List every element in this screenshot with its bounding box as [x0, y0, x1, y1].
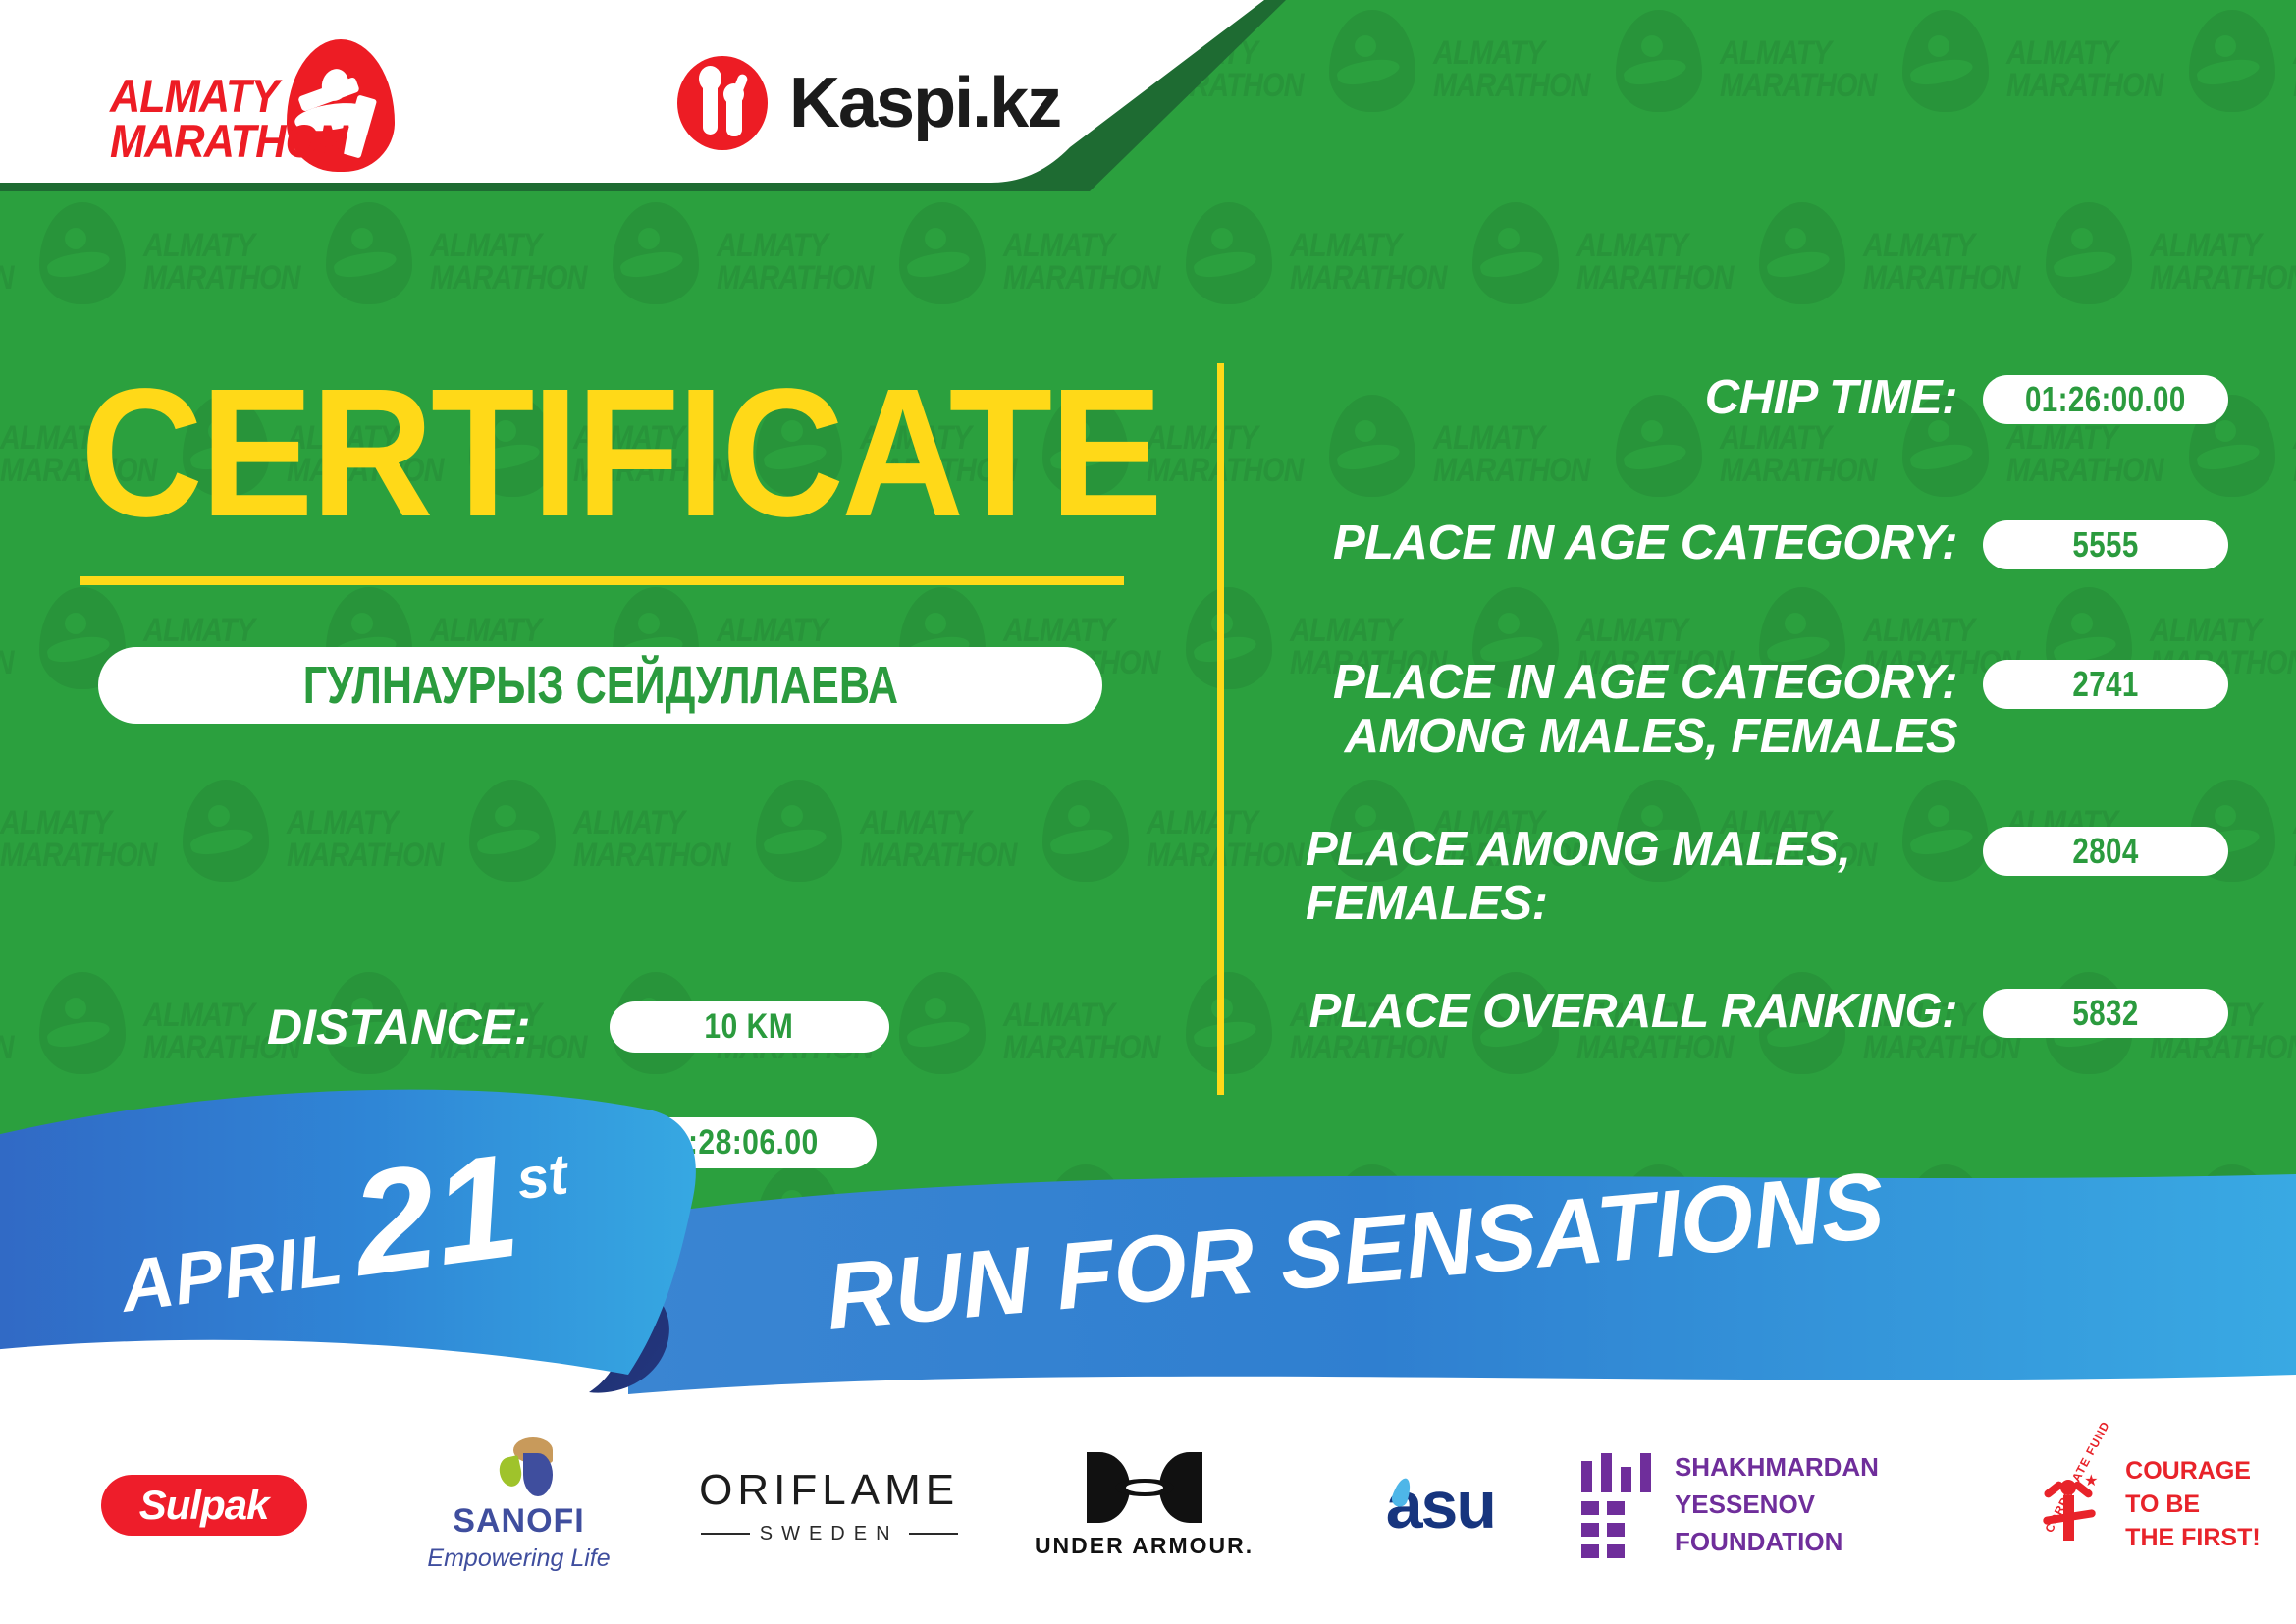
stat-label: CHIP TIME: [1247, 371, 1983, 425]
watermark-tile: ALMATY MARATHON [1720, 0, 2014, 196]
watermark-text: ALMATY MARATHON [1003, 1000, 1179, 1065]
courage-wordmark: COURAGE TO BE THE FIRST! [2125, 1455, 2261, 1554]
watermark-text: ALMATY MARATHON [0, 230, 32, 296]
sponsor-bar: Sulpak SANOFI Empowering Life ORIFLAME S… [0, 1412, 2296, 1598]
watermark-drop-icon [1042, 780, 1129, 882]
stat-row: PLACE AMONG MALES, FEMALES: 2804 [1247, 823, 2228, 931]
sponsor-logo-oriflame: ORIFLAME SWEDEN [669, 1466, 989, 1545]
watermark-drop-icon [469, 780, 556, 882]
stat-row: CHIP TIME: 01:26:00.00 [1247, 371, 2228, 425]
stat-value: 01:26:00.00 [2025, 379, 2186, 420]
sanofi-wordmark: SANOFI [453, 1502, 584, 1541]
watermark-text: ALMATY MARATHON [1863, 230, 2039, 296]
title-underline-rule [80, 576, 1124, 585]
stat-value-pill: 5832 [1983, 989, 2228, 1038]
watermark-tile: ALMATY MARATHON [2006, 0, 2296, 196]
kaspi-figure-short-head [723, 83, 744, 105]
kaspi-wordmark: Kaspi.kz [789, 63, 1060, 143]
distance-row: DISTANCE: 10 KM [267, 999, 889, 1056]
kaspi-mark-icon [677, 56, 768, 150]
watermark-text: ALMATY MARATHON [143, 230, 319, 296]
watermark-text: ALMATY MARATHON [2150, 230, 2296, 296]
certificate-root: ALMATY MARATHONALMATY MARATHONALMATY MAR… [0, 0, 2296, 1624]
watermark-text: ALMATY MARATHON [1147, 422, 1322, 488]
watermark-text: ALMATY MARATHON [430, 230, 606, 296]
sanofi-tagline: Empowering Life [427, 1544, 610, 1573]
participant-name-text: ГУЛНАУРЫЗ СЕЙДУЛЛАЕВА [302, 659, 897, 712]
courage-mark-icon: CORPORATE FUND ★ [2021, 1460, 2111, 1550]
watermark-text: ALMATY MARATHON [1576, 230, 1752, 296]
under-armour-mark-icon [1087, 1452, 1202, 1523]
ua-center-hole [1126, 1483, 1163, 1492]
watermark-drop-icon [326, 202, 412, 304]
watermark-drop-icon [1902, 10, 1989, 112]
watermark-tile: ALMATY MARATHON [1433, 0, 1728, 196]
stat-row: PLACE IN AGE CATEGORY: AMONG MALES, FEMA… [1247, 656, 2228, 764]
watermark-text: ALMATY MARATHON [1720, 422, 1896, 488]
stat-row: PLACE OVERALL RANKING: 5832 [1247, 985, 2228, 1039]
watermark-drop-icon [1186, 202, 1272, 304]
sponsor-logo-sanofi: SANOFI Empowering Life [368, 1437, 669, 1573]
watermark-text: ALMATY MARATHON [2006, 422, 2182, 488]
watermark-tile: ALMATY MARATHON [1863, 192, 2158, 389]
under-armour-wordmark: UNDER ARMOUR. [1035, 1533, 1254, 1559]
distance-value-pill: 10 KM [610, 1001, 889, 1053]
stat-value: 2741 [2072, 664, 2138, 705]
watermark-text: ALMATY MARATHON [1720, 37, 1896, 103]
yessenov-mark-icon [1581, 1453, 1651, 1558]
watermark-drop-icon [613, 202, 699, 304]
watermark-text: ALMATY MARATHON [0, 615, 32, 680]
watermark-text: ALMATY MARATHON [1003, 230, 1179, 296]
watermark-text: ALMATY MARATHON [2006, 37, 2182, 103]
watermark-drop-icon [1329, 10, 1415, 112]
watermark-drop-icon [899, 202, 986, 304]
stat-value: 5555 [2072, 524, 2138, 566]
watermark-text: ALMATY MARATHON [1290, 230, 1466, 296]
event-ribbon: APRIL 21 st RUN FOR SENSATIONS [0, 1080, 2296, 1404]
sponsor-logo-courage-to-be-the-first: CORPORATE FUND ★ COURAGE TO BE THE FIRST… [1986, 1455, 2296, 1554]
watermark-tile: ALMATY MARATHON [573, 770, 868, 966]
oriflame-wordmark: ORIFLAME [699, 1466, 959, 1515]
watermark-text: ALMATY MARATHON [573, 807, 749, 873]
almaty-marathon-logo: ALMATY MARATHON [110, 44, 404, 152]
sponsor-logo-asu: asu [1300, 1472, 1581, 1539]
event-day-ordinal: st [512, 1141, 571, 1213]
stat-row: PLACE IN AGE CATEGORY: 5555 [1247, 516, 2228, 570]
watermark-drop-icon [39, 972, 126, 1074]
watermark-tile: ALMATY MARATHON [0, 770, 294, 966]
sanofi-mark-icon [480, 1437, 559, 1498]
oriflame-rule-left [701, 1533, 750, 1535]
distance-label: DISTANCE: [267, 999, 531, 1056]
stat-label: PLACE AMONG MALES, FEMALES: [1247, 823, 1983, 931]
watermark-drop-icon [2189, 10, 2275, 112]
watermark-tile: ALMATY MARATHON [860, 770, 1154, 966]
stat-value-pill: 2741 [1983, 660, 2228, 709]
sulpak-wordmark: Sulpak [139, 1482, 269, 1529]
watermark-tile: ALMATY MARATHON [1576, 192, 1871, 389]
stat-label: PLACE IN AGE CATEGORY: [1247, 516, 1983, 570]
watermark-text: ALMATY MARATHON [717, 230, 892, 296]
watermark-drop-icon [1616, 10, 1702, 112]
sanofi-petal-blue [523, 1453, 553, 1496]
vertical-divider [1217, 363, 1224, 1095]
watermark-text: ALMATY MARATHON [1433, 422, 1609, 488]
watermark-text: ALMATY MARATHON [1433, 37, 1609, 103]
watermark-drop-icon [1472, 202, 1559, 304]
certificate-title: CERTIFICATE [80, 362, 1160, 545]
kaspi-figure-tall-head [699, 66, 721, 91]
stat-label: PLACE IN AGE CATEGORY: AMONG MALES, FEMA… [1247, 656, 1983, 764]
sanofi-petal-green [497, 1455, 524, 1489]
participant-name-field: ГУЛНАУРЫЗ СЕЙДУЛЛАЕВА [98, 647, 1102, 724]
almaty-marathon-wordmark: ALMATY MARATHON [110, 74, 347, 163]
stat-value-pill: 2804 [1983, 827, 2228, 876]
kaspi-kz-logo: Kaspi.kz [677, 54, 1060, 152]
watermark-drop-icon [39, 202, 126, 304]
distance-value: 10 KM [705, 1007, 794, 1047]
watermark-text: ALMATY MARATHON [0, 1000, 32, 1065]
watermark-text: ALMATY MARATHON [0, 807, 176, 873]
watermark-tile: ALMATY MARATHON [287, 770, 581, 966]
watermark-text: ALMATY MARATHON [287, 807, 462, 873]
watermark-drop-icon [756, 780, 842, 882]
yessenov-grid [1581, 1501, 1651, 1558]
watermark-tile: ALMATY MARATHON [1290, 192, 1584, 389]
sponsor-logo-yessenov-foundation: SHAKHMARDAN YESSENOV FOUNDATION [1581, 1449, 1986, 1560]
watermark-drop-icon [183, 780, 269, 882]
event-day: 21 [346, 1138, 525, 1291]
stat-label: PLACE OVERALL RANKING: [1247, 985, 1983, 1039]
stat-value: 5832 [2072, 993, 2138, 1034]
sponsor-logo-sulpak: Sulpak [39, 1475, 368, 1536]
oriflame-tagline: SWEDEN [760, 1523, 899, 1545]
oriflame-sub-row: SWEDEN [701, 1523, 958, 1545]
yessenov-bars [1581, 1453, 1651, 1492]
stat-value: 2804 [2072, 831, 2138, 872]
watermark-drop-icon [899, 972, 986, 1074]
stat-value-pill: 5555 [1983, 520, 2228, 569]
oriflame-rule-right [909, 1533, 958, 1535]
sponsor-logo-under-armour: UNDER ARMOUR. [988, 1452, 1299, 1559]
watermark-tile: ALMATY MARATHON [2150, 192, 2296, 389]
watermark-drop-icon [1759, 202, 1845, 304]
watermark-text: ALMATY MARATHON [860, 807, 1036, 873]
yessenov-wordmark: SHAKHMARDAN YESSENOV FOUNDATION [1675, 1449, 1986, 1560]
watermark-drop-icon [2046, 202, 2132, 304]
sulpak-pill-shape: Sulpak [101, 1475, 307, 1536]
stat-value-pill: 01:26:00.00 [1983, 375, 2228, 424]
